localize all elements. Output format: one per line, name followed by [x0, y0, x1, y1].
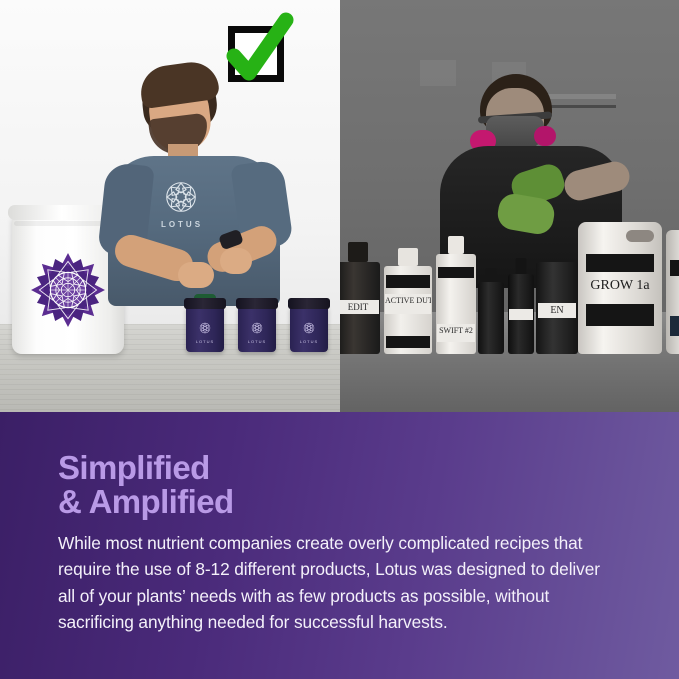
- marker-bar: [586, 304, 654, 326]
- jar-lid: [288, 298, 330, 309]
- marker-bar: [670, 316, 679, 336]
- bad-method-panel: EDIT ACTIVE DUTY SWIFT #2: [340, 0, 679, 412]
- marker-bar: [670, 260, 679, 276]
- jug-handle: [626, 230, 654, 242]
- jar-label: LOTUS: [186, 339, 224, 344]
- nutrient-bottle: EDIT: [340, 242, 380, 354]
- headline-line-2: & Amplified: [58, 485, 234, 519]
- bottle-neck: [448, 236, 464, 254]
- marketing-copy-panel: Simplified & Amplified While most nutrie…: [0, 412, 679, 679]
- hand-left: [178, 262, 214, 288]
- bottle-label: BOO: [669, 281, 679, 298]
- bottle-neck: [398, 248, 418, 266]
- nutrient-jug: GROW 1a: [578, 222, 662, 354]
- bottle-label: [509, 309, 533, 320]
- tshirt-wordmark: LOTUS: [152, 220, 212, 229]
- bottle-label: GROW 1a: [582, 276, 658, 296]
- product-comparison-infographic: LOTUS: [0, 0, 679, 679]
- lotus-mandala-icon: [196, 319, 214, 337]
- nutrient-jug: BOO: [666, 230, 679, 354]
- lotus-mandala-icon: [248, 319, 266, 337]
- bottle-neck: [486, 268, 497, 282]
- bottle-neck: [348, 242, 368, 262]
- jar-lid: [184, 298, 226, 309]
- bottle-label: EDIT: [340, 300, 379, 314]
- nutrient-bottle: SWIFT #2: [436, 236, 476, 354]
- nutrient-bottle: ACTIVE DUTY: [384, 250, 432, 354]
- marker-bar: [586, 254, 654, 272]
- nutrient-bottle: [478, 268, 504, 354]
- photo-comparison-strip: LOTUS: [0, 0, 679, 412]
- nutrient-bottle: EN: [536, 262, 578, 354]
- jar-label: LOTUS: [238, 339, 276, 344]
- lotus-mandala-icon: [300, 319, 318, 337]
- lotus-mandala-icon: [158, 174, 204, 220]
- bottle-neck: [516, 258, 527, 274]
- nutrient-bottle: [508, 258, 534, 354]
- nutrient-bottle-clutter: EDIT ACTIVE DUTY SWIFT #2: [340, 204, 679, 354]
- green-check-icon: [228, 26, 284, 82]
- bottle-label: EN: [538, 303, 576, 318]
- headline-line-1: Simplified: [58, 451, 234, 485]
- jar-lid: [236, 298, 278, 309]
- body-copy: While most nutrient companies create ove…: [58, 530, 606, 635]
- lotus-mandala-icon: [26, 248, 110, 332]
- lotus-jar: LOTUS: [186, 306, 224, 352]
- page-title: Simplified & Amplified: [58, 451, 234, 520]
- check-mark: [218, 12, 298, 92]
- good-method-panel: LOTUS: [0, 0, 340, 412]
- bottle-body: [478, 282, 504, 354]
- bottle-label: ACTIVE DUTY: [385, 294, 431, 314]
- marker-bar: [386, 275, 430, 288]
- lotus-jar-group: LOTUS: [186, 294, 332, 352]
- respirator-filter: [534, 126, 556, 146]
- lotus-jar: LOTUS: [290, 306, 328, 352]
- jar-label: LOTUS: [290, 339, 328, 344]
- lotus-jar: LOTUS: [238, 306, 276, 352]
- bottle-label: SWIFT #2: [437, 324, 475, 342]
- marker-bar: [438, 267, 474, 278]
- marker-bar: [386, 336, 430, 348]
- hand-right: [220, 248, 252, 274]
